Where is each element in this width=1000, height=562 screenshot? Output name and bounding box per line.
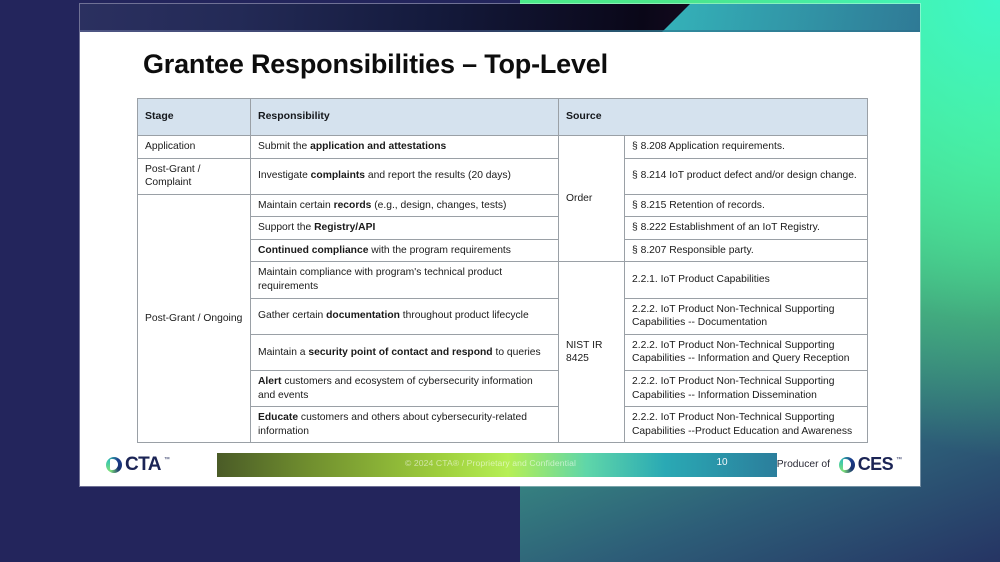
cta-wordmark: CTA: [125, 454, 161, 476]
producer-of-label: Producer of: [777, 459, 830, 470]
source-reference-cell: § 8.215 Retention of records.: [625, 194, 868, 217]
ces-wordmark: CES: [858, 454, 893, 475]
text-bold: Alert: [258, 376, 281, 387]
text-bold: records: [334, 200, 372, 211]
text-plain: Maintain a: [258, 347, 308, 358]
source-reference-cell: § 8.207 Responsible party.: [625, 239, 868, 262]
ces-trademark-symbol: ™: [896, 457, 902, 463]
column-header-responsibility: Responsibility: [251, 99, 559, 136]
text-bold: security point of contact and respond: [308, 347, 492, 358]
responsibility-cell: Gather certain documentation throughout …: [251, 298, 559, 334]
responsibility-cell: Maintain certain records (e.g., design, …: [251, 194, 559, 217]
text-bold: documentation: [326, 310, 400, 321]
source-reference-cell: 2.2.2. IoT Product Non-Technical Support…: [625, 334, 868, 370]
confidential-notice: © 2024 CTA® / Proprietary and Confidenti…: [405, 458, 576, 468]
text-bold: application and attestations: [310, 141, 446, 152]
table-body: Application Submit the application and a…: [138, 136, 868, 443]
slide-top-banner: [80, 4, 920, 32]
page-number: 10: [710, 457, 734, 468]
responsibilities-table: Stage Responsibility Source Application …: [137, 98, 868, 443]
screenshot-root: Grantee Responsibilities – Top-Level Sta…: [0, 0, 1000, 562]
column-header-stage: Stage: [138, 99, 251, 136]
responsibility-cell: Support the Registry/API: [251, 217, 559, 240]
text-plain: customers and others about cybersecurity…: [258, 412, 527, 437]
table-header: Stage Responsibility Source: [138, 99, 868, 136]
text-plain: Gather certain: [258, 310, 326, 321]
stage-cell-post-grant-ongoing: Post-Grant / Ongoing: [138, 194, 251, 443]
text-plain: and report the results (20 days): [365, 170, 511, 181]
source-group-order: Order: [559, 136, 625, 262]
source-reference-cell: 2.2.2. IoT Product Non-Technical Support…: [625, 407, 868, 443]
text-plain: (e.g., design, changes, tests): [371, 200, 506, 211]
ces-logo: CES ™: [839, 454, 902, 475]
responsibility-cell: Maintain a security point of contact and…: [251, 334, 559, 370]
cta-logo: CTA ™: [106, 454, 170, 476]
stage-cell-post-grant-complaint: Post-Grant / Complaint: [138, 158, 251, 194]
text-plain: to queries: [493, 347, 541, 358]
responsibility-cell: Maintain compliance with program's techn…: [251, 262, 559, 298]
text-bold: Educate: [258, 412, 298, 423]
text-plain: customers and ecosystem of cybersecurity…: [258, 376, 533, 401]
source-reference-cell: 2.2.1. IoT Product Capabilities: [625, 262, 868, 298]
text-plain: Support the: [258, 222, 314, 233]
presentation-slide: Grantee Responsibilities – Top-Level Sta…: [80, 4, 920, 486]
source-reference-cell: § 8.208 Application requirements.: [625, 136, 868, 159]
stage-cell-application: Application: [138, 136, 251, 159]
banner-underline: [80, 30, 920, 32]
text-plain: Maintain certain: [258, 200, 334, 211]
text-plain: Investigate: [258, 170, 311, 181]
cta-mark-icon: [106, 457, 122, 473]
responsibility-cell: Investigate complaints and report the re…: [251, 158, 559, 194]
table-row: Post-Grant / Complaint Investigate compl…: [138, 158, 868, 194]
page-title: Grantee Responsibilities – Top-Level: [143, 49, 608, 80]
table-row: Application Submit the application and a…: [138, 136, 868, 159]
source-group-nist: NIST IR 8425: [559, 262, 625, 443]
responsibility-cell: Continued compliance with the program re…: [251, 239, 559, 262]
text-plain: throughout product lifecycle: [400, 310, 529, 321]
cta-trademark-symbol: ™: [164, 457, 170, 463]
banner-navy-segment: [80, 4, 690, 32]
responsibility-cell: Educate customers and others about cyber…: [251, 407, 559, 443]
source-reference-cell: 2.2.2. IoT Product Non-Technical Support…: [625, 298, 868, 334]
text-bold: Registry/API: [314, 222, 375, 233]
text-plain: Submit the: [258, 141, 310, 152]
source-reference-cell: § 8.222 Establishment of an IoT Registry…: [625, 217, 868, 240]
table-header-row: Stage Responsibility Source: [138, 99, 868, 136]
text-bold: Continued compliance: [258, 245, 368, 256]
table-row: Post-Grant / Ongoing Maintain certain re…: [138, 194, 868, 217]
text-bold: complaints: [311, 170, 365, 181]
column-header-source: Source: [559, 99, 868, 136]
text-plain: with the program requirements: [368, 245, 511, 256]
source-reference-cell: § 8.214 IoT product defect and/or design…: [625, 158, 868, 194]
source-reference-cell: 2.2.2. IoT Product Non-Technical Support…: [625, 370, 868, 406]
responsibility-cell: Alert customers and ecosystem of cyberse…: [251, 370, 559, 406]
ces-mark-icon: [839, 457, 855, 473]
responsibility-cell: Submit the application and attestations: [251, 136, 559, 159]
slide-footer: © 2024 CTA® / Proprietary and Confidenti…: [80, 450, 920, 486]
text-plain: Maintain compliance with program's techn…: [258, 267, 502, 292]
